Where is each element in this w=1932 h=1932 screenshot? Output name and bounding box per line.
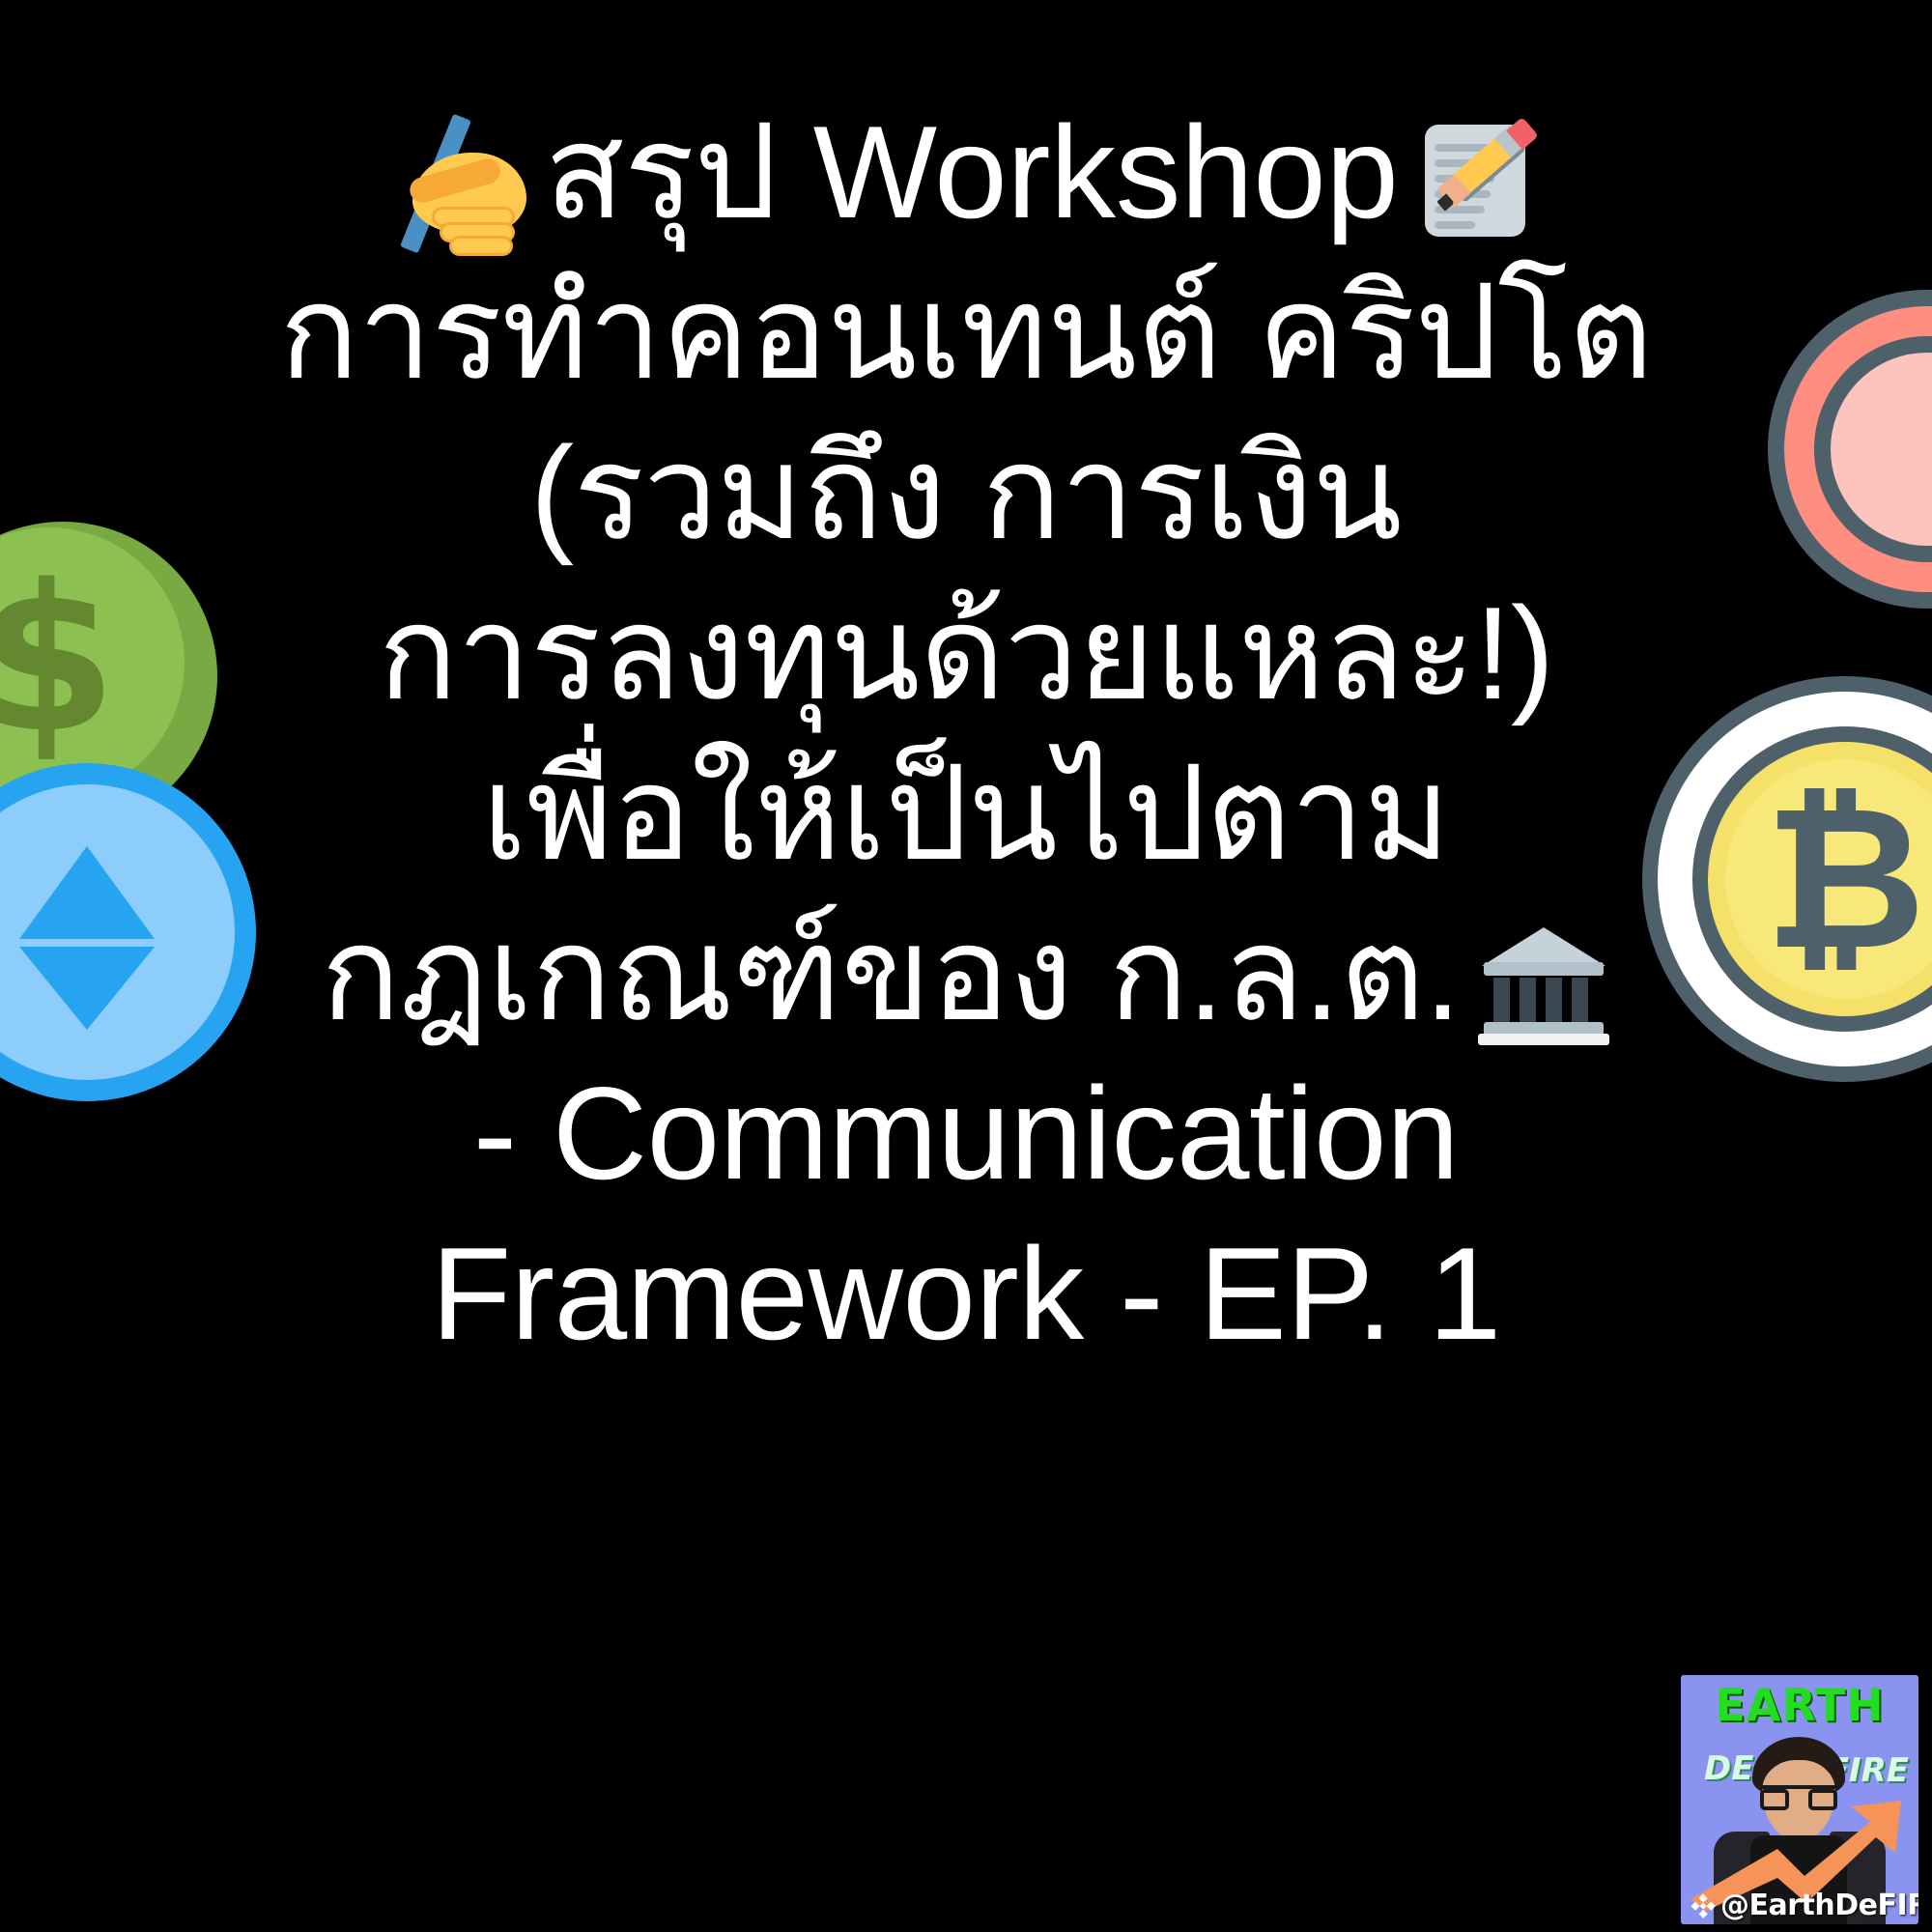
headline-line-1: สรุป Workshop [0, 93, 1932, 253]
poster-canvas: $ ₿ สรุป Workshop การ [0, 0, 1932, 1932]
headline-line-1-text: สรุป Workshop [545, 99, 1399, 245]
page-title: สรุป Workshop การทำคอนเทนต์ คริปโต (รวมถ… [0, 0, 1932, 1375]
headline-line-2: การทำคอนเทนต์ คริปโต [0, 253, 1932, 413]
headline-line-7: - Communication [0, 1054, 1932, 1214]
headline-line-5: เพื่อให้เป็นไปตาม [0, 734, 1932, 895]
watermark-handle[interactable]: @EarthDeFIRE [1690, 1891, 1915, 1920]
headline-line-6: กฎเกณฑ์ของ ก.ล.ต. [0, 895, 1932, 1055]
watermark-brand-top: EARTH [1681, 1683, 1918, 1727]
binance-diamond-icon [1690, 1893, 1716, 1918]
memo-emoji [1411, 115, 1547, 250]
classical-building-emoji [1476, 922, 1611, 1047]
headline-line-6-text: กฎเกณฑ์ของ ก.ล.ต. [321, 900, 1461, 1047]
headline-line-3: (รวมถึง การเงิน [0, 413, 1932, 574]
headline-line-8: Framework - EP. 1 [0, 1214, 1932, 1375]
writing-hand-emoji [385, 118, 535, 248]
channel-watermark[interactable]: EARTH DE FIRE @EarthDeFIRE [1681, 1675, 1918, 1924]
watermark-handle-text: @EarthDeFIRE [1720, 1891, 1918, 1920]
headline-line-4: การลงทุนด้วยแหละ!) [0, 574, 1932, 734]
